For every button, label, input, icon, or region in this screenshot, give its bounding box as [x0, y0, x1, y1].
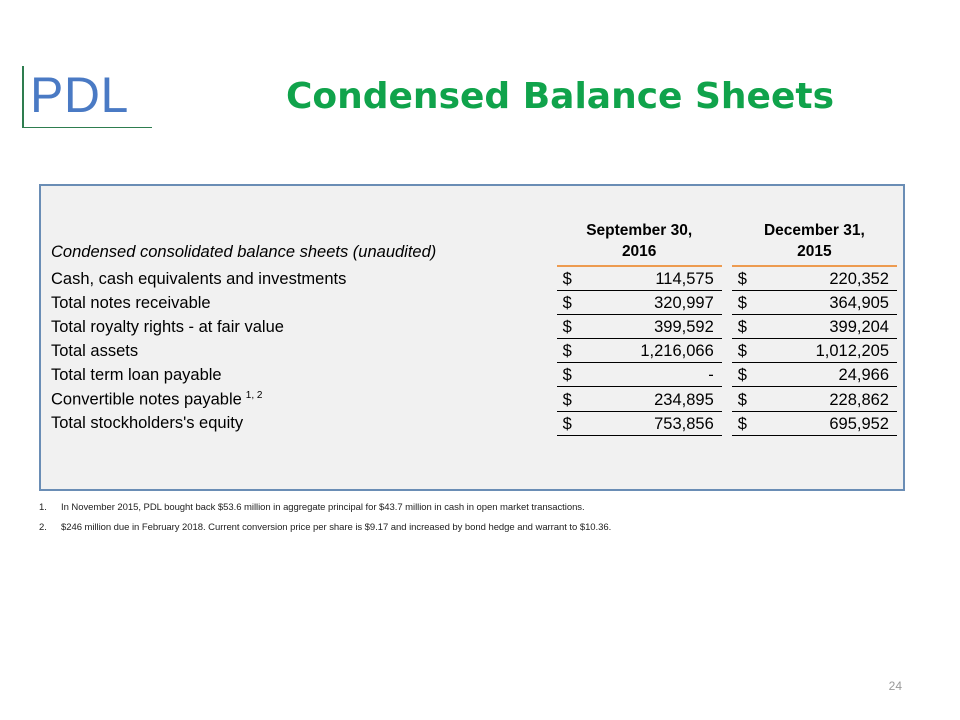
column-header-sep-2016-line1: September 30, — [586, 222, 692, 239]
row-value-sep-2016: $114,575 — [557, 266, 722, 291]
row-label-text: Convertible notes payable — [51, 390, 242, 408]
row-label-text: Total stockholders's equity — [51, 414, 243, 432]
amount-value: 234,895 — [557, 391, 722, 410]
row-label-text: Total term loan payable — [51, 366, 222, 384]
currency-symbol: $ — [563, 342, 572, 361]
table-row: Total royalty rights - at fair value $39… — [51, 315, 897, 339]
balance-sheet-table: Condensed consolidated balance sheets (u… — [51, 220, 897, 436]
currency-symbol: $ — [563, 391, 572, 410]
logo-horizontal-rule — [22, 127, 152, 129]
pdl-logo: PDL — [22, 66, 152, 128]
logo-wordmark: PDL — [30, 65, 129, 125]
footnote-number: 1. — [33, 502, 61, 514]
amount-value: 695,952 — [732, 415, 897, 434]
column-header-sep-2016: September 30, 2016 — [557, 220, 722, 266]
amount-value: 320,997 — [557, 294, 722, 313]
row-label: Total stockholders's equity — [51, 411, 557, 435]
amount-value: 1,012,205 — [732, 342, 897, 361]
footnotes: 1. In November 2015, PDL bought back $53… — [33, 502, 913, 542]
row-label: Total term loan payable — [51, 363, 557, 387]
row-value-dec-2015: $228,862 — [732, 387, 897, 412]
currency-symbol: $ — [738, 415, 747, 434]
amount-value: 399,592 — [557, 318, 722, 337]
row-label: Total assets — [51, 339, 557, 363]
footnote-number: 2. — [33, 522, 61, 534]
table-caption: Condensed consolidated balance sheets (u… — [51, 220, 557, 266]
table-header-row: Condensed consolidated balance sheets (u… — [51, 220, 897, 266]
column-gap — [722, 220, 732, 266]
currency-symbol: $ — [563, 270, 572, 289]
table-row: Convertible notes payable1, 2 $234,895 $… — [51, 387, 897, 412]
currency-symbol: $ — [563, 366, 572, 385]
currency-symbol: $ — [563, 294, 572, 313]
column-gap — [722, 315, 732, 339]
amount-value: 364,905 — [732, 294, 897, 313]
column-header-dec-2015-line1: December 31, — [764, 222, 865, 239]
row-value-sep-2016: $234,895 — [557, 387, 722, 412]
footnote-text: In November 2015, PDL bought back $53.6 … — [61, 502, 913, 514]
column-gap — [722, 363, 732, 387]
row-value-dec-2015: $24,966 — [732, 363, 897, 387]
row-label-text: Total notes receivable — [51, 294, 211, 312]
currency-symbol: $ — [738, 391, 747, 410]
footnote-item: 2. $246 million due in February 2018. Cu… — [33, 522, 913, 534]
table-row: Total stockholders's equity $753,856 $69… — [51, 411, 897, 435]
footnote-item: 1. In November 2015, PDL bought back $53… — [33, 502, 913, 514]
amount-value: 220,352 — [732, 270, 897, 289]
row-label: Cash, cash equivalents and investments — [51, 266, 557, 291]
footnote-marker: 1, 2 — [246, 390, 263, 401]
page-number: 24 — [889, 679, 902, 693]
currency-symbol: $ — [563, 415, 572, 434]
amount-value: 114,575 — [557, 270, 722, 289]
row-value-sep-2016: $1,216,066 — [557, 339, 722, 363]
row-value-sep-2016: $399,592 — [557, 315, 722, 339]
amount-value: 399,204 — [732, 318, 897, 337]
amount-value: 24,966 — [732, 366, 897, 385]
table-row: Cash, cash equivalents and investments $… — [51, 266, 897, 291]
amount-value: 1,216,066 — [557, 342, 722, 361]
currency-symbol: $ — [738, 342, 747, 361]
page-title: Condensed Balance Sheets — [170, 76, 950, 117]
row-value-dec-2015: $364,905 — [732, 291, 897, 315]
column-gap — [722, 387, 732, 412]
column-gap — [722, 266, 732, 291]
row-label: Total royalty rights - at fair value — [51, 315, 557, 339]
amount-value: - — [557, 366, 722, 385]
row-value-dec-2015: $220,352 — [732, 266, 897, 291]
currency-symbol: $ — [738, 366, 747, 385]
column-header-sep-2016-line2: 2016 — [622, 243, 656, 260]
row-label: Convertible notes payable1, 2 — [51, 387, 557, 412]
currency-symbol: $ — [563, 318, 572, 337]
amount-value: 228,862 — [732, 391, 897, 410]
column-header-dec-2015: December 31, 2015 — [732, 220, 897, 266]
currency-symbol: $ — [738, 270, 747, 289]
row-value-sep-2016: $320,997 — [557, 291, 722, 315]
column-header-dec-2015-line2: 2015 — [797, 243, 831, 260]
row-value-dec-2015: $695,952 — [732, 411, 897, 435]
row-value-sep-2016: $753,856 — [557, 411, 722, 435]
column-gap — [722, 339, 732, 363]
row-label-text: Total royalty rights - at fair value — [51, 318, 284, 336]
column-gap — [722, 411, 732, 435]
balance-sheet-panel: Condensed consolidated balance sheets (u… — [39, 184, 905, 491]
table-row: Total term loan payable $- $24,966 — [51, 363, 897, 387]
row-label-text: Total assets — [51, 342, 138, 360]
table-row: Total notes receivable $320,997 $364,905 — [51, 291, 897, 315]
row-label: Total notes receivable — [51, 291, 557, 315]
table-row: Total assets $1,216,066 $1,012,205 — [51, 339, 897, 363]
row-value-dec-2015: $1,012,205 — [732, 339, 897, 363]
row-value-sep-2016: $- — [557, 363, 722, 387]
row-value-dec-2015: $399,204 — [732, 315, 897, 339]
footnote-text: $246 million due in February 2018. Curre… — [61, 522, 913, 534]
currency-symbol: $ — [738, 318, 747, 337]
row-label-text: Cash, cash equivalents and investments — [51, 270, 346, 288]
currency-symbol: $ — [738, 294, 747, 313]
logo-vertical-rule — [22, 66, 24, 128]
amount-value: 753,856 — [557, 415, 722, 434]
column-gap — [722, 291, 732, 315]
